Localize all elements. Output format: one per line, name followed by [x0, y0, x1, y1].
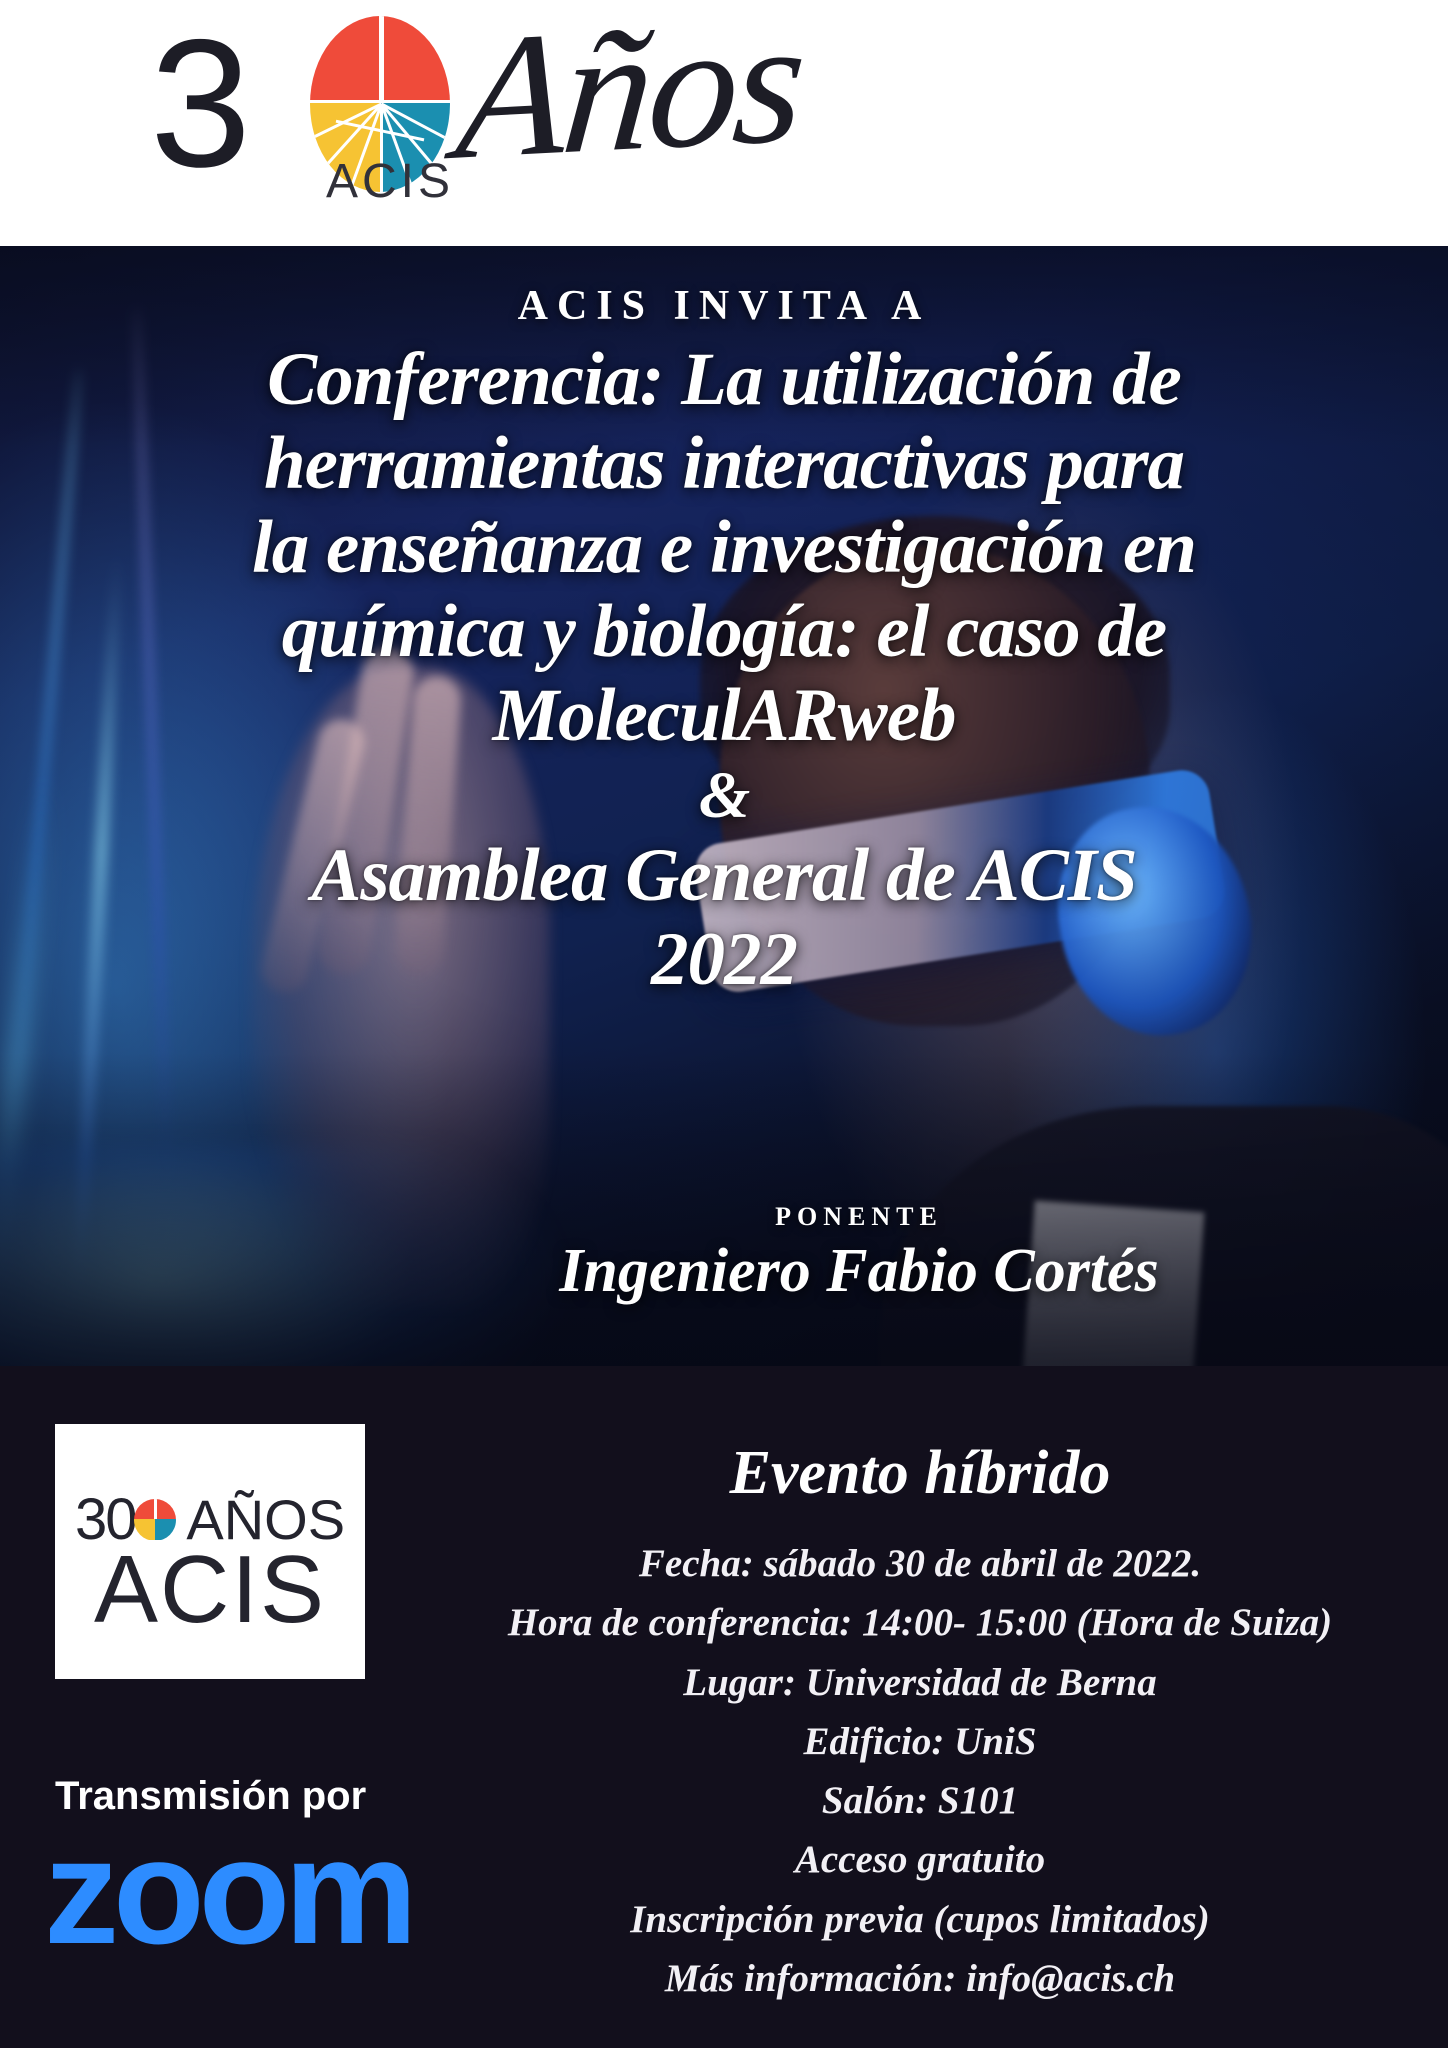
- event-title-line-7: 2022: [58, 918, 1390, 1002]
- event-detail-line: Lugar: Universidad de Berna: [392, 1653, 1448, 1712]
- footer-logo-acis: ACIS: [55, 1542, 365, 1638]
- event-detail-line: Salón: S101: [392, 1771, 1448, 1830]
- event-detail-line: Más información: info@acis.ch: [392, 1949, 1448, 2008]
- poster-header: 3 ACIS Años Una experiencia de colaborac…: [0, 0, 1448, 246]
- event-details-heading: Evento híbrido: [392, 1438, 1448, 1509]
- event-title-line-6: Asamblea General de ACIS: [58, 834, 1390, 918]
- event-title-line-3: la enseñanza e investigación en: [58, 506, 1390, 590]
- zoom-logo: zoom: [44, 1816, 412, 1966]
- event-detail-line: Fecha: sábado 30 de abril de 2022.: [392, 1534, 1448, 1593]
- emblem-top-red: [310, 16, 450, 100]
- hero-kicker: ACIS INVITA A: [0, 282, 1448, 330]
- event-detail-line: Acceso gratuito: [392, 1830, 1448, 1889]
- acis-footer-logo-box: 30 AÑOS ACIS: [55, 1424, 365, 1679]
- event-title-line-2: herramientas interactivas para: [58, 422, 1390, 506]
- acis-leaf-emblem-icon-small: [134, 1499, 176, 1541]
- event-details-list: Fecha: sábado 30 de abril de 2022.Hora d…: [392, 1534, 1448, 2008]
- hero-banner: ACIS INVITA A Conferencia: La utilizació…: [0, 246, 1448, 1366]
- logo-word-anos: Años: [451, 0, 809, 187]
- speaker-name: Ingeniero Fabio Cortés: [0, 1236, 1448, 1307]
- logo-emblem-label: ACIS: [326, 154, 454, 209]
- event-title-ampersand: &: [58, 758, 1390, 834]
- acis-30-anos-logo: 3 ACIS Años: [150, 4, 1160, 194]
- event-title: Conferencia: La utilización de herramien…: [58, 338, 1390, 1002]
- event-detail-line: Edificio: UniS: [392, 1712, 1448, 1771]
- poster-footer: 30 AÑOS ACIS Transmisión por zoom Evento…: [0, 1366, 1448, 2048]
- event-detail-line: Inscripción previa (cupos limitados): [392, 1890, 1448, 1949]
- event-title-line-4: química y biología: el caso de: [58, 590, 1390, 674]
- speaker-label: PONENTE: [0, 1202, 1448, 1232]
- event-title-line-1: Conferencia: La utilización de: [58, 338, 1390, 422]
- event-title-line-5: MoleculARweb: [58, 674, 1390, 758]
- logo-number-30: 3: [150, 12, 245, 194]
- event-detail-line: Hora de conferencia: 14:00- 15:00 (Hora …: [392, 1593, 1448, 1652]
- hero-text-block: ACIS INVITA A Conferencia: La utilizació…: [0, 246, 1448, 1366]
